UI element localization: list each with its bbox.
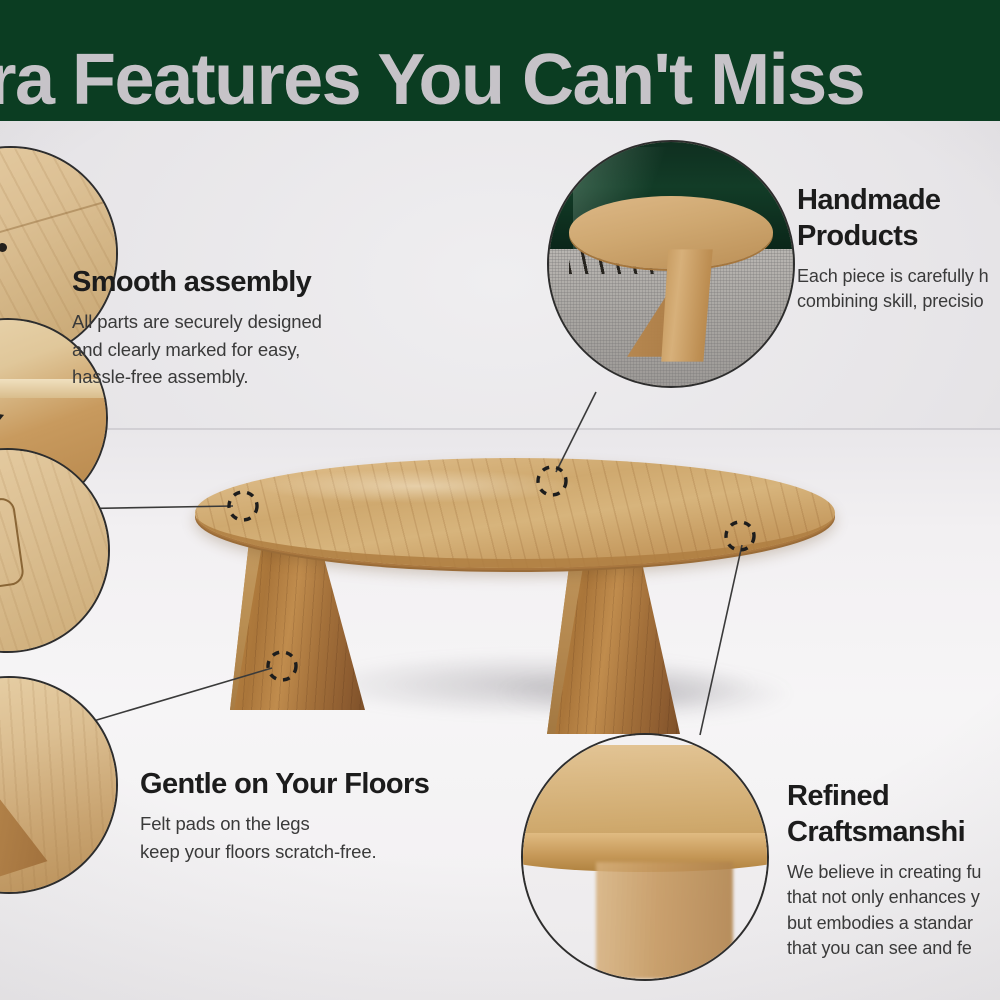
product-photo-coffee-table: [185, 440, 865, 740]
tabletop-highlight: [233, 467, 694, 515]
feature-body: Each piece is carefully h combining skil…: [797, 264, 1000, 315]
feature-block-handmade-products: Handmade Products Each piece is carefull…: [797, 182, 1000, 315]
feature-block-gentle-on-your-floors: Gentle on Your Floors Felt pads on the l…: [140, 768, 540, 865]
leg-underside-blur: [596, 862, 733, 979]
feature-title-line-1: Refined: [787, 778, 1000, 814]
feature-title: Gentle on Your Floors: [140, 768, 540, 800]
feature-body: Felt pads on the legs keep your floors s…: [140, 810, 540, 864]
callout-image-tabletop-edge: [523, 735, 767, 979]
feature-title: Smooth assembly: [72, 266, 432, 298]
poster-canvas: tra Features You Can't Miss Smooth assem…: [0, 0, 1000, 1000]
callout-left-4[interactable]: [0, 676, 118, 894]
callout-left-3[interactable]: [0, 448, 110, 653]
feature-title-line-2: Craftsmanshi: [787, 814, 1000, 850]
callout-image-table-on-rug: [549, 142, 793, 386]
feature-body: All parts are securely designed and clea…: [72, 308, 432, 390]
feature-block-smooth-assembly: Smooth assembly All parts are securely d…: [72, 266, 432, 390]
callout-top-center[interactable]: [547, 140, 795, 388]
callout-bottom-center[interactable]: [521, 733, 769, 981]
feature-block-refined-craftsmanship: Refined Craftsmanshi We believe in creat…: [787, 778, 1000, 962]
page-title: tra Features You Can't Miss: [0, 44, 1000, 116]
feature-title-line-1: Handmade: [797, 182, 1000, 218]
feature-title-line-2: Products: [797, 218, 1000, 254]
feature-body: We believe in creating fu that not only …: [787, 860, 1000, 962]
